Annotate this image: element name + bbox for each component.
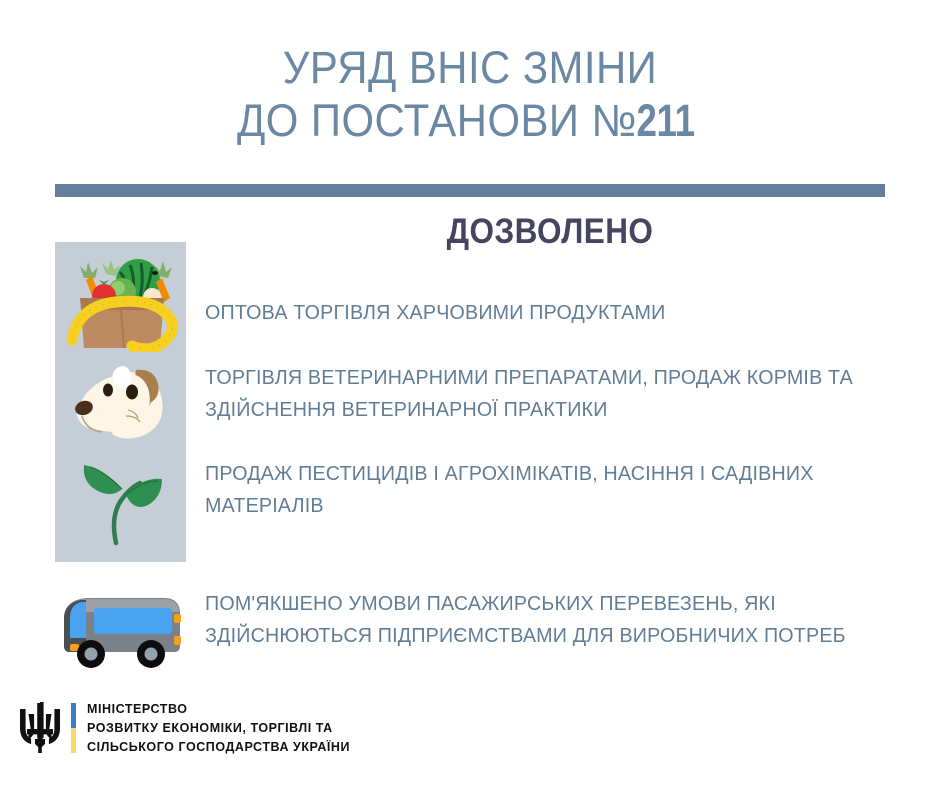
dog-head-icon	[70, 362, 174, 440]
title-line-2: ДО ПОСТАНОВИ №211	[33, 95, 907, 148]
bus-icon	[58, 588, 186, 668]
title-line-2-prefix: ДО ПОСТАНОВИ №	[237, 95, 637, 146]
ministry-line-2: РОЗВИТКУ ЕКОНОМІКИ, ТОРГІВЛІ ТА	[87, 719, 350, 738]
list-item: ПРОДАЖ ПЕСТИЦИДІВ І АГРОХІМІКАТІВ, НАСІН…	[205, 458, 889, 522]
sprout-plant-icon	[72, 455, 176, 547]
ukrainian-trident-icon	[18, 701, 62, 755]
flag-bar-icon	[71, 703, 76, 753]
title-line-1: УРЯД ВНІС ЗМІНИ	[33, 42, 907, 95]
grocery-bag-vegetables-measuring-tape-icon	[62, 248, 182, 352]
list-item: ПОМ'ЯКШЕНО УМОВИ ПАСАЖИРСЬКИХ ПЕРЕВЕЗЕНЬ…	[205, 588, 889, 652]
ministry-name: МІНІСТЕРСТВО РОЗВИТКУ ЕКОНОМІКИ, ТОРГІВЛ…	[87, 700, 350, 756]
list-item: ТОРГІВЛЯ ВЕТЕРИНАРНИМИ ПРЕПАРАТАМИ, ПРОД…	[205, 362, 889, 426]
list-item: ОПТОВА ТОРГІВЛЯ ХАРЧОВИМИ ПРОДУКТАМИ	[205, 297, 889, 329]
title-resolution-number: 211	[637, 95, 695, 148]
footer-ministry-logo: МІНІСТЕРСТВО РОЗВИТКУ ЕКОНОМІКИ, ТОРГІВЛ…	[18, 700, 350, 756]
page-title: УРЯД ВНІС ЗМІНИ ДО ПОСТАНОВИ №211	[0, 42, 940, 147]
section-heading-allowed: ДОЗВОЛЕНО	[240, 212, 861, 252]
header-divider	[55, 184, 885, 197]
ministry-line-3: СІЛЬСЬКОГО ГОСПОДАРСТВА УКРАЇНИ	[87, 738, 350, 757]
ministry-line-1: МІНІСТЕРСТВО	[87, 700, 350, 719]
infographic-poster: УРЯД ВНІС ЗМІНИ ДО ПОСТАНОВИ №211 ДОЗВОЛ…	[0, 0, 940, 788]
